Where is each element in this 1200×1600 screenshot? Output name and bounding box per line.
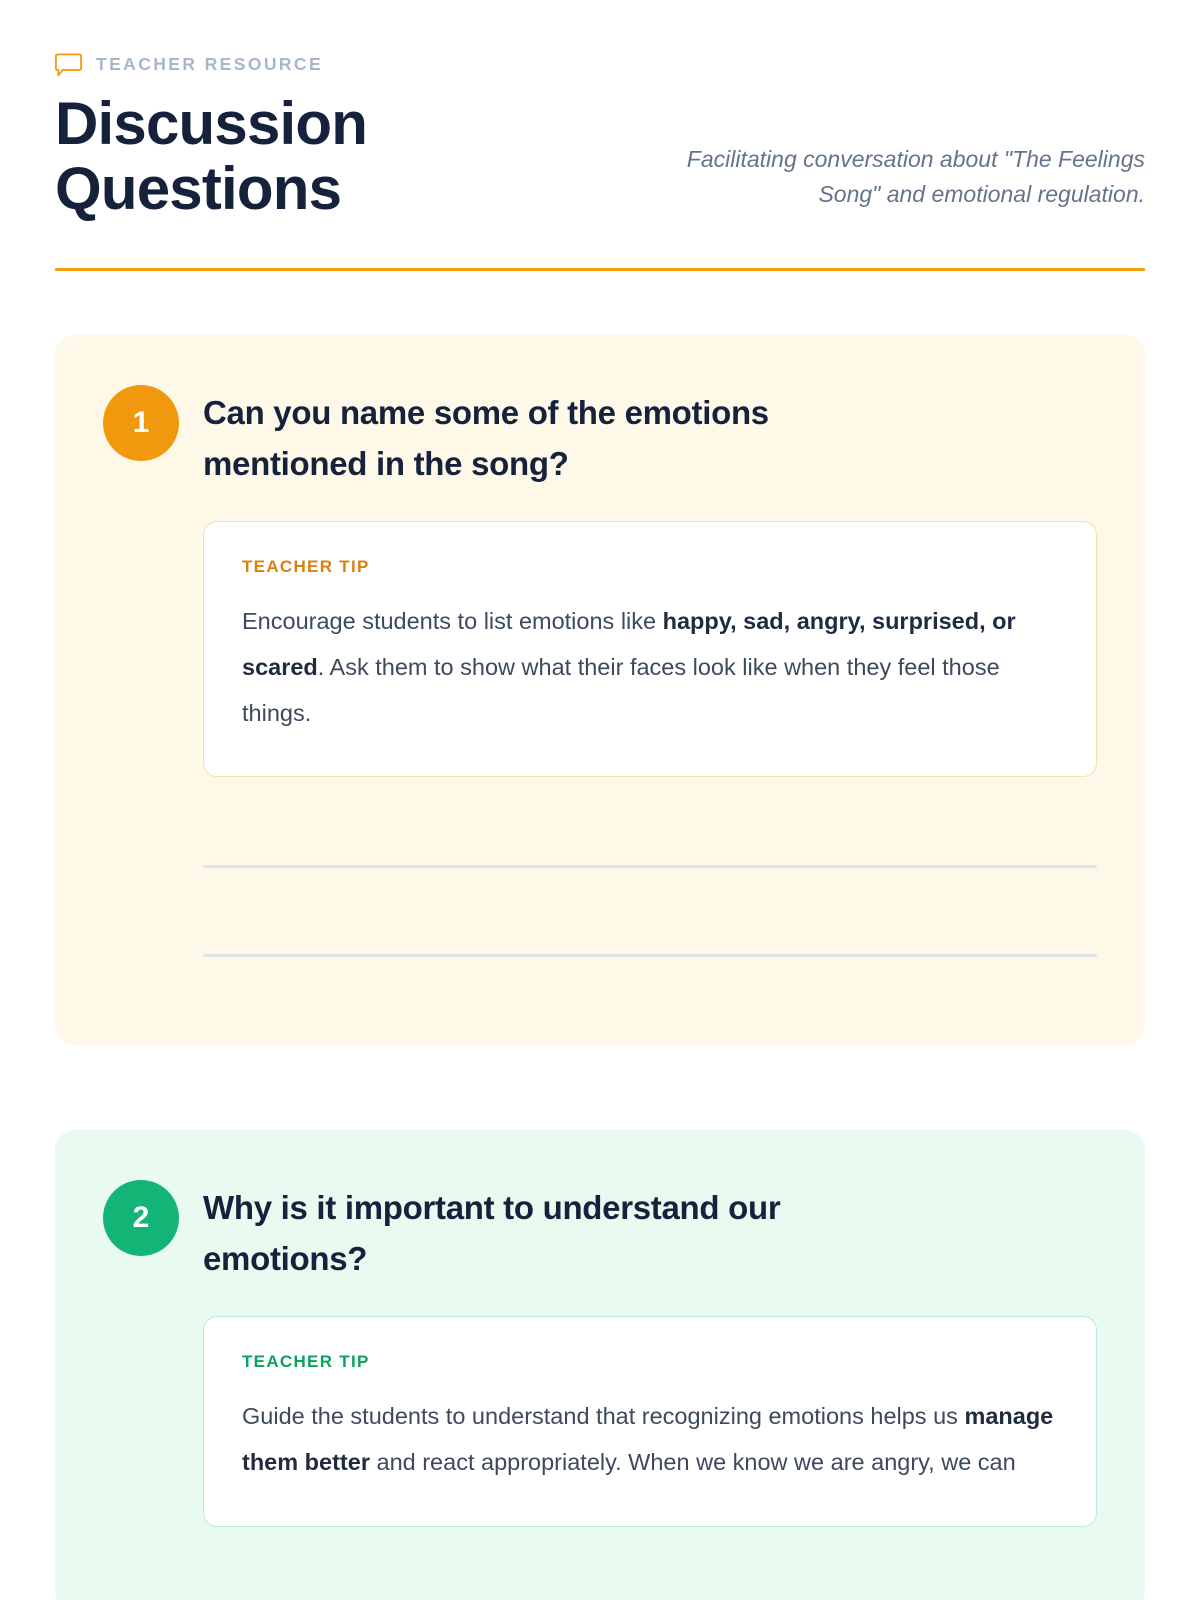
tip-text-segment: and react appropriately. When we know we… bbox=[370, 1449, 1016, 1475]
tip-text-segment: . Ask them to show what their faces look… bbox=[242, 654, 1000, 726]
answer-write-line[interactable] bbox=[203, 954, 1097, 957]
discussion-questions-page: TEACHER RESOURCE Discussion Questions Fa… bbox=[0, 0, 1200, 1600]
speech-bubble-icon bbox=[55, 53, 82, 77]
question-row-2: 2 Why is it important to understand our … bbox=[103, 1176, 1097, 1284]
header-divider bbox=[55, 268, 1145, 271]
page-title-line-1: Discussion bbox=[55, 90, 367, 157]
eyebrow-label: TEACHER RESOURCE bbox=[96, 56, 323, 74]
answer-write-line[interactable] bbox=[203, 865, 1097, 868]
page-subtitle: Facilitating conversation about "The Fee… bbox=[675, 142, 1145, 222]
question-row-1: 1 Can you name some of the emotions ment… bbox=[103, 381, 1097, 489]
question-number-badge-2: 2 bbox=[103, 1180, 179, 1256]
teacher-tip-body-1: Encourage students to list emotions like… bbox=[242, 599, 1058, 736]
teacher-tip-box-1: TEACHER TIP Encourage students to list e… bbox=[203, 521, 1097, 777]
question-text-1: Can you name some of the emotions mentio… bbox=[203, 381, 903, 489]
page-header: TEACHER RESOURCE Discussion Questions Fa… bbox=[55, 0, 1145, 271]
eyebrow-row: TEACHER RESOURCE bbox=[55, 52, 1145, 78]
page-title: Discussion Questions bbox=[55, 92, 367, 222]
question-number-badge-1: 1 bbox=[103, 385, 179, 461]
teacher-tip-label-2: TEACHER TIP bbox=[242, 1353, 1058, 1370]
page-title-line-2: Questions bbox=[55, 155, 341, 222]
teacher-tip-body-2: Guide the students to understand that re… bbox=[242, 1394, 1058, 1486]
question-card-2: 2 Why is it important to understand our … bbox=[55, 1130, 1145, 1600]
tip-text-segment: Guide the students to understand that re… bbox=[242, 1403, 964, 1429]
question-cards: 1 Can you name some of the emotions ment… bbox=[55, 335, 1145, 1600]
teacher-tip-box-2: TEACHER TIP Guide the students to unders… bbox=[203, 1316, 1097, 1527]
question-card-1: 1 Can you name some of the emotions ment… bbox=[55, 335, 1145, 1045]
teacher-tip-label-1: TEACHER TIP bbox=[242, 558, 1058, 575]
question-text-2: Why is it important to understand our em… bbox=[203, 1176, 903, 1284]
tip-text-segment: Encourage students to list emotions like bbox=[242, 608, 663, 634]
header-main: Discussion Questions Facilitating conver… bbox=[55, 92, 1145, 222]
answer-lines-1 bbox=[203, 865, 1097, 957]
